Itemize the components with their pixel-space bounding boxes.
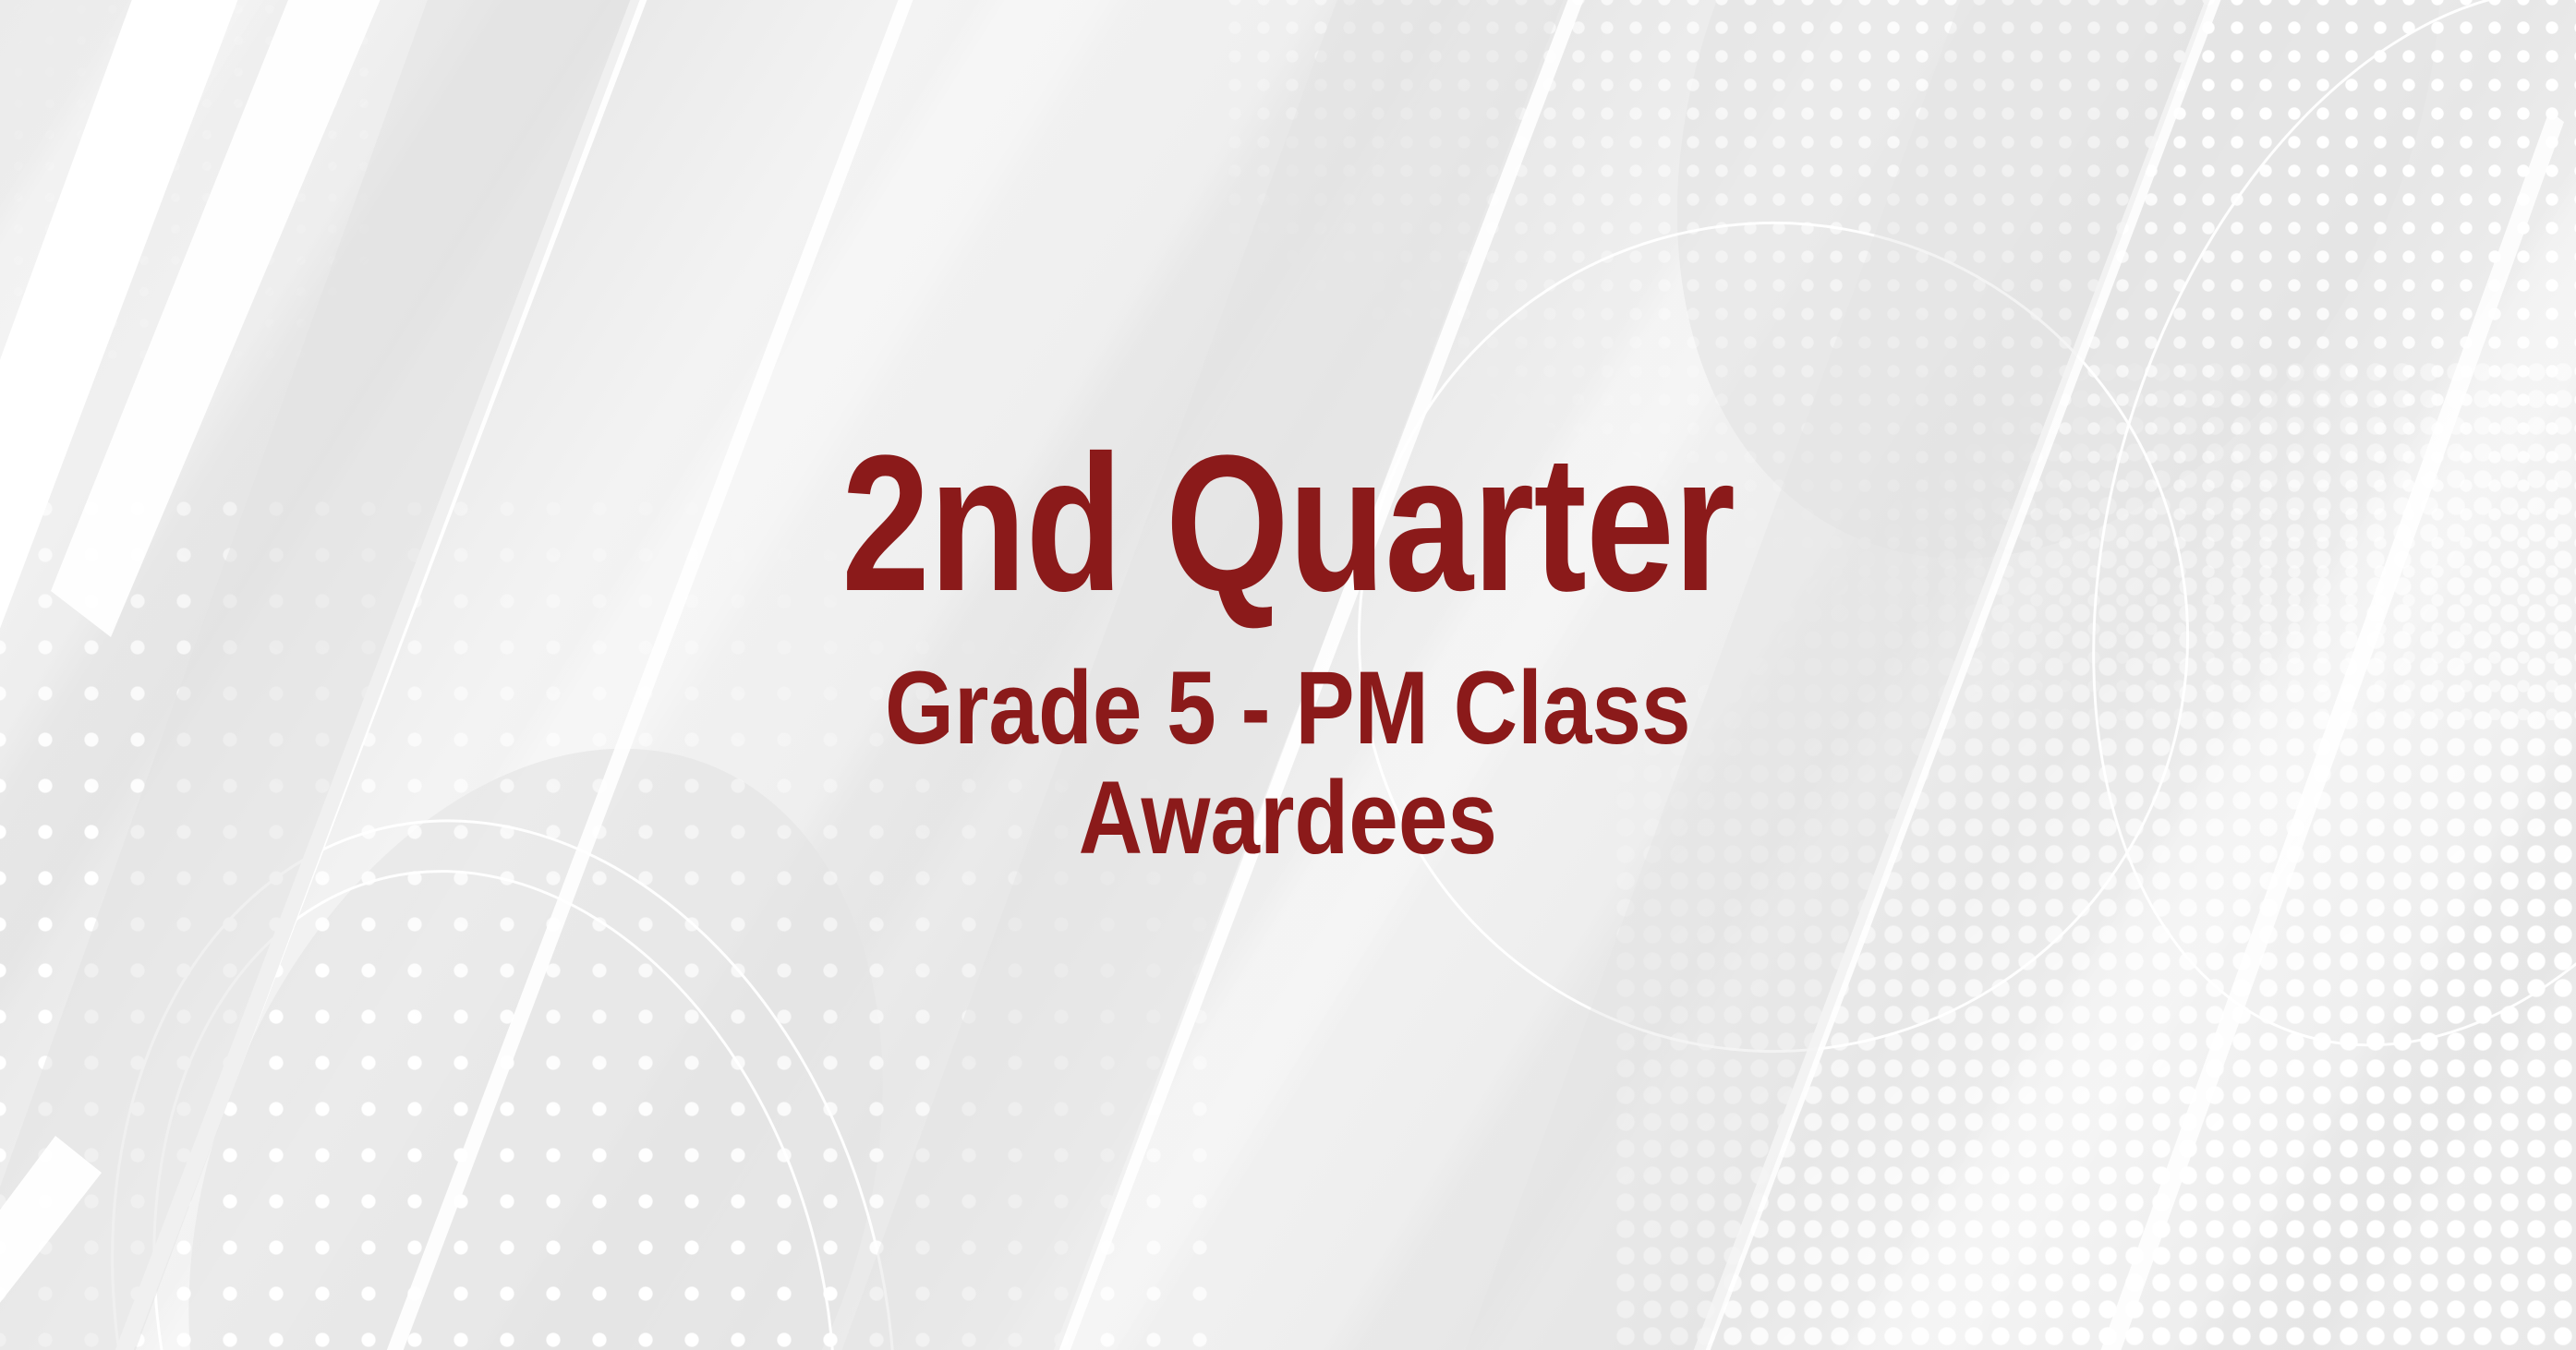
slide-content: 2nd Quarter Grade 5 - PM Class Awardees	[0, 0, 2576, 1350]
page-title: 2nd Quarter	[841, 428, 1735, 619]
subtitle-line-1: Grade 5 - PM Class	[885, 654, 1691, 764]
page-subtitle: Grade 5 - PM Class Awardees	[885, 654, 1691, 873]
subtitle-line-2: Awardees	[885, 764, 1691, 874]
title-slide: 2nd Quarter Grade 5 - PM Class Awardees	[0, 0, 2576, 1350]
